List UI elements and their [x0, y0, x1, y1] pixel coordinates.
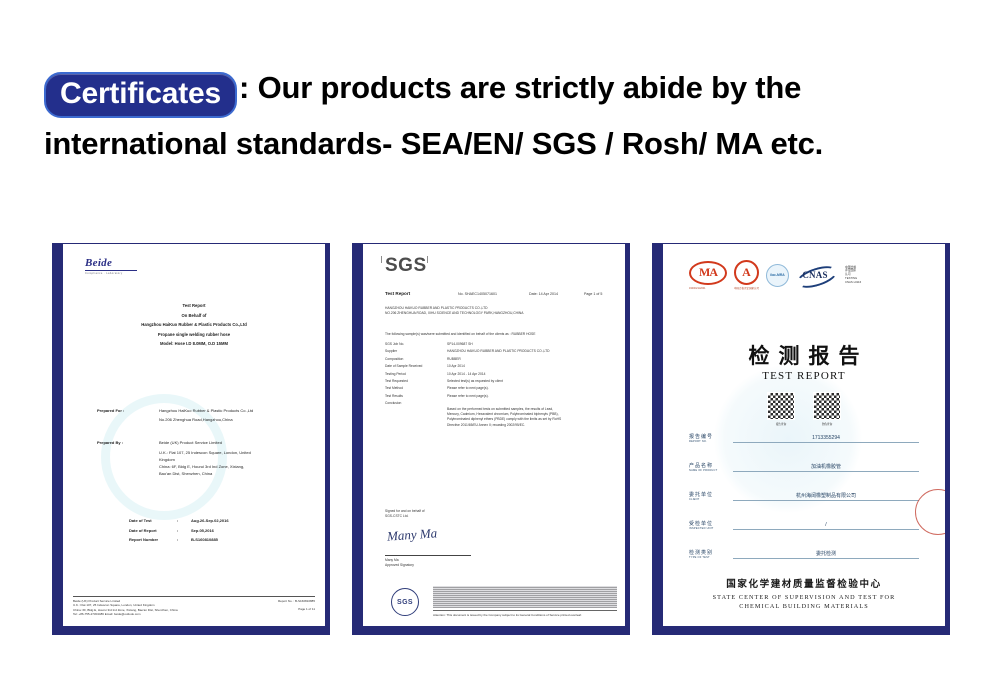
prepared-by-block: Prepared By :Beide (UK) Product Service …	[97, 438, 315, 477]
sep: :	[177, 535, 191, 545]
sgs-row-key: Test Method	[385, 385, 447, 392]
report-title-line: On Behalf of	[63, 311, 325, 321]
beide-logo: Beide Compliance · Laboratory	[85, 258, 141, 275]
beide-logo-tagline: Compliance · Laboratory	[85, 272, 141, 275]
ilac-mra-logo: ilac-MRA	[766, 264, 789, 287]
sgs-conclusion: Based on the performed tests on submitte…	[447, 407, 611, 428]
issuer-name-cn: 国家化学建材质量监督检验中心	[663, 576, 945, 590]
sgs-row-value: Please refer to next page(s).	[447, 394, 489, 398]
sgs-seal-text: SGS	[397, 599, 413, 606]
report-title-cn: 检测报告	[663, 340, 945, 370]
prepared-by-address-line: U.K.: Flat 107, 25 Indescon Square, Lond…	[159, 449, 315, 456]
sgs-row-value: HANGZHOU HAIKUO RUBBER AND PLASTIC PRODU…	[447, 349, 550, 353]
certificates-badge: Certificates	[44, 72, 237, 118]
sgs-report-no: No. SHAEC1405071601	[458, 292, 497, 296]
field-value: 杭州海阔橡塑制品有限公司	[733, 492, 919, 501]
cnas-logo-text: CNAS	[802, 270, 827, 280]
field-value: /	[733, 522, 919, 530]
sgs-row-value: 10 Apr 2014	[447, 364, 465, 368]
sgs-row-value: RUBBER	[447, 357, 461, 361]
sgs-row-key: Test Requested	[385, 378, 447, 385]
sgs-row-key: Supplier	[385, 348, 447, 355]
sgs-signatory-role: Approved Signatory	[385, 563, 414, 568]
page-title: Certificates: Our products are strictly …	[44, 62, 974, 170]
footer-meta: Report No. : B-S160810885 Page 1 of 11	[278, 599, 315, 612]
accreditation-logos: MA 190002112001 A 中国合格评定国家认可 ilac-MRA CN…	[689, 260, 861, 290]
issuer-name-en: STATE CENTER OF SUPERVISION AND TEST FOR…	[663, 593, 945, 611]
title-colon: :	[239, 70, 249, 105]
cnas-side-text: 中国合格 评定国家 认可 TESTING CNAS L0116	[845, 266, 861, 285]
qr-code-group: 报告查询 防伪查询	[663, 392, 945, 426]
beide-logo-rule	[85, 270, 137, 271]
footer-page: Page 1 of 11	[278, 607, 315, 611]
qr-caption: 防伪查询	[813, 422, 841, 426]
issuer-name-en-line: STATE CENTER OF SUPERVISION AND TEST FOR	[663, 593, 945, 602]
date-of-test-label: Date of Test	[129, 516, 177, 526]
sgs-row-value: Please refer to next page(s).	[447, 386, 489, 390]
field-inspected-unit: 受检单位 INSPECTED UNIT /	[689, 521, 919, 530]
sgs-signatory: Many Ma Approved Signatory	[385, 558, 414, 568]
certificate-sheet: SGS Test Report No. SHAEC1405071601 Date…	[363, 244, 625, 626]
report-title-line: Hangzhou HaiKuo Rubber & Plastic Product…	[63, 320, 325, 330]
footer-note: Attention: This document is issued by th…	[433, 613, 617, 617]
field-label-en: CLIENT	[689, 498, 733, 501]
certificate-card-beide[interactable]: Beide Compliance · Laboratory Test Repor…	[52, 243, 330, 635]
field-value: 1713355294	[733, 435, 919, 443]
sgs-row-key: Conclusion	[385, 400, 447, 407]
field-report-no: 报告编号 REPORT NO. 1713355294	[689, 434, 919, 443]
footer-line: Tel: +86-755-27304486 Email: beide@outlo…	[73, 612, 243, 616]
sgs-row-key: Composition	[385, 356, 447, 363]
footer-address: Beide (UK) Product Service Limited U.K.:…	[73, 599, 243, 617]
report-title-line: Model: Hose I.D 8.0MM, O.D 15MM	[63, 339, 325, 349]
qr-code-report[interactable]	[767, 392, 795, 420]
certificates-page: Certificates: Our products are strictly …	[0, 0, 1000, 700]
footer-divider	[433, 610, 617, 611]
field-client: 委托单位 CLIENT 杭州海阔橡塑制品有限公司	[689, 492, 919, 501]
qr-caption: 报告查询	[767, 422, 795, 426]
title-line-1: Our products are strictly abide by the	[258, 70, 802, 105]
sgs-row-key: SGS Job No.	[385, 341, 447, 348]
field-product-name: 产品名称 NAME OF PRODUCT 加油机橡胶管	[689, 463, 919, 472]
field-test-type: 检测类别 TYPE OF TEST 委托检测	[689, 550, 919, 559]
sgs-row-value: 10 Apr 2014 - 14 Apr 2014	[447, 372, 486, 376]
sgs-report-page: Page 1 of 5	[584, 292, 602, 296]
prepared-by-address-line: Bao'an Dist, Shenzhen, China	[159, 470, 315, 477]
certificate-sheet: MA 190002112001 A 中国合格评定国家认可 ilac-MRA CN…	[663, 244, 945, 626]
sgs-logo-tick	[381, 256, 382, 263]
prepared-by-label: Prepared By :	[97, 438, 159, 447]
sgs-conclusion-line: Directive 2011/65/EU Annex II; recasting…	[447, 423, 611, 428]
sep: :	[177, 516, 191, 526]
footer-divider	[73, 596, 315, 597]
report-dates-block: Date of Test:Aug.26-Sep.02,2016 Date of …	[129, 516, 229, 545]
prepared-for-address: No.206 Zhenghua Road,Hangzhou,China	[159, 415, 315, 424]
prepared-by-address-line: China: 6F, Bldg E, Hourui 3rd Ind Zone, …	[159, 463, 315, 470]
sgs-signed-for-line: SGS-CSTC Ltd.	[385, 514, 425, 519]
certificate-sheet: Beide Compliance · Laboratory Test Repor…	[63, 244, 325, 626]
field-label-en: TYPE OF TEST	[689, 556, 733, 559]
prepared-for-value: Hangzhou HaiKuo Rubber & Plastic Product…	[159, 408, 253, 413]
certificate-card-cn[interactable]: MA 190002112001 A 中国合格评定国家认可 ilac-MRA CN…	[652, 243, 950, 635]
date-of-report-label: Date of Report	[129, 526, 177, 536]
sgs-seal-logo: SGS	[391, 588, 419, 616]
date-of-report-value: Sep.05,2016	[191, 528, 214, 533]
a-circle-logo: A	[734, 260, 759, 285]
beide-logo-word: Beide	[85, 258, 141, 269]
prepared-for-label: Prepared For :	[97, 406, 159, 415]
signature-line	[385, 555, 471, 556]
footer-legal-text	[433, 586, 617, 608]
sep: :	[177, 526, 191, 536]
prepared-by-value: Beide (UK) Product Service Limited	[159, 440, 222, 445]
sgs-report-title: Test Report	[385, 291, 410, 296]
cnas-logo: CNAS	[796, 265, 834, 285]
field-value: 加油机橡胶管	[733, 463, 919, 472]
footer-report-no: Report No. : B-S160810885	[278, 599, 315, 603]
sgs-row-value: SP14-009687 SH	[447, 342, 473, 346]
signature-mark: Many Ma	[387, 525, 438, 544]
sgs-intro: The following sample(s) was/were submitt…	[385, 332, 611, 336]
report-title-line: Test Report	[63, 301, 325, 311]
report-title-block: Test Report On Behalf of Hangzhou HaiKuo…	[63, 301, 325, 349]
report-title-en: TEST REPORT	[663, 370, 945, 382]
date-of-test-value: Aug.26-Sep.02,2016	[191, 518, 229, 523]
report-number-value: B-S160810885	[191, 537, 218, 542]
report-title-line: Propane single welding rubber hose	[63, 330, 325, 340]
issuer-name-en-line: CHEMICAL BUILDING MATERIALS	[663, 602, 945, 611]
sgs-signed-for: Signed for and on behalf of SGS-CSTC Ltd…	[385, 509, 425, 519]
sgs-report-date: Date: 14 Apr 2014	[529, 292, 558, 296]
field-label-en: INSPECTED UNIT	[689, 527, 733, 530]
ma-logo: MA	[689, 261, 727, 285]
qr-code-antifake[interactable]	[813, 392, 841, 420]
sgs-logo: SGS	[385, 256, 427, 275]
ma-logo-sub: 190002112001	[689, 287, 727, 290]
prepared-by-address-line: Kingdom	[159, 456, 315, 463]
red-seal-stamp	[915, 489, 945, 535]
field-label-en: NAME OF PRODUCT	[689, 469, 733, 472]
title-line-2: international standards- SEA/EN/ SGS / R…	[44, 126, 823, 161]
prepared-for-block: Prepared For :Hangzhou HaiKuo Rubber & P…	[97, 406, 315, 424]
sgs-row-value: Selected test(s) as requested by client	[447, 379, 503, 383]
sgs-client-line: NO.206 ZHENGHUA ROAD, XIHU SCIENCE AND T…	[385, 311, 524, 316]
a-circle-logo-sub: 中国合格评定国家认可	[734, 287, 759, 290]
field-label-en: REPORT NO.	[689, 440, 733, 443]
sgs-row-key: Test Results	[385, 393, 447, 400]
sgs-row-key: Testing Period	[385, 371, 447, 378]
sgs-logo-tick	[427, 256, 428, 263]
sgs-row-key: Date of Sample Received	[385, 363, 447, 370]
certificate-card-sgs[interactable]: SGS Test Report No. SHAEC1405071601 Date…	[352, 243, 630, 635]
report-number-label: Report Number	[129, 535, 177, 545]
field-value: 委托检测	[733, 550, 919, 559]
